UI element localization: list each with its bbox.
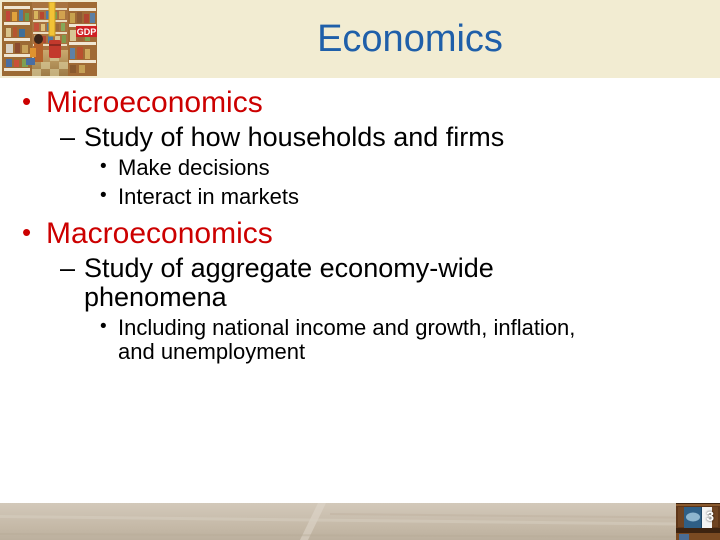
bullet-text: Make decisions (118, 156, 720, 180)
bullet-marker-icon: • (100, 185, 118, 208)
bullet-level1: • Macroeconomics (0, 209, 720, 249)
bullet-text: Study of aggregate economy-wide phenomen… (84, 254, 720, 312)
slide-header: GDP Economics (0, 0, 720, 78)
bullet-marker-icon: • (22, 218, 46, 248)
bullet-text: Including national income and growth, in… (118, 316, 720, 364)
slide-footer: 3 (0, 503, 720, 540)
floor-texture (0, 503, 720, 540)
bullet-level3: • Make decisions (0, 152, 720, 180)
bullet-marker-icon: • (22, 87, 46, 117)
page-title: Economics (100, 0, 720, 78)
bullet-level3: • Interact in markets (0, 181, 720, 209)
svg-text:GDP: GDP (77, 27, 97, 37)
slide-body: • Microeconomics – Study of how househol… (0, 78, 720, 503)
bullet-text: Interact in markets (118, 185, 720, 209)
bullet-level1: • Microeconomics (0, 78, 720, 118)
bullet-text: Study of how households and firms (84, 123, 720, 152)
bullet-level2: – Study of aggregate economy-wide phenom… (0, 249, 720, 312)
bullet-level3: • Including national income and growth, … (0, 312, 720, 364)
bullet-level2: – Study of how households and firms (0, 118, 720, 152)
bookshelf-thumbnail: 3 (676, 503, 720, 540)
bullet-text: Macroeconomics (46, 218, 720, 249)
bullet-marker-icon: • (100, 316, 118, 339)
dash-marker-icon: – (60, 254, 84, 283)
store-shelves-illustration: GDP (2, 2, 97, 76)
page-number: 3 (706, 509, 714, 523)
bullet-marker-icon: • (100, 156, 118, 179)
slide: GDP Economics • Microeconomics – (0, 0, 720, 540)
bullet-text: Microeconomics (46, 87, 720, 118)
dash-marker-icon: – (60, 123, 84, 152)
